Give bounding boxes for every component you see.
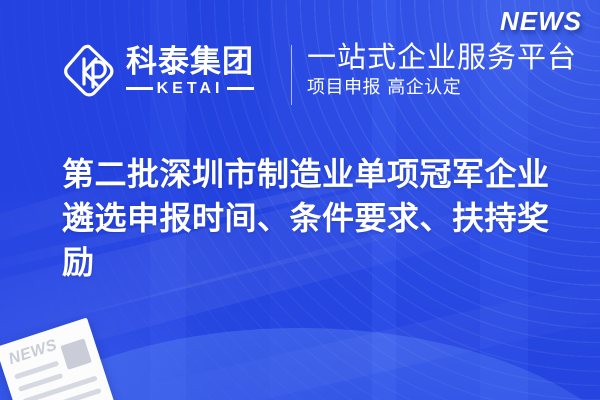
page-title: 第二批深圳市制造业单项冠军企业遴选申报时间、条件要求、扶持奖励 xyxy=(62,152,562,284)
logo-chinese-name: 科泰集团 xyxy=(126,46,254,78)
news-banner: 科泰集团 KETAI 一站式企业服务平台 项目申报 高企认定 NEWS 第二批深… xyxy=(0,0,600,400)
tagline-block: 一站式企业服务平台 项目申报 高企认定 xyxy=(307,40,577,100)
newspaper-icon: NEWS xyxy=(0,318,116,400)
logo-dash-right xyxy=(227,87,254,90)
tagline-sub: 项目申报 高企认定 xyxy=(307,76,577,100)
ketai-diamond-kp-icon xyxy=(62,42,116,100)
tagline-main: 一站式企业服务平台 xyxy=(307,40,577,74)
header-divider xyxy=(291,45,292,105)
logo-english-name: KETAI xyxy=(157,81,224,97)
banner-header: 科泰集团 KETAI 一站式企业服务平台 项目申报 高企认定 NEWS xyxy=(0,0,600,125)
logo-dash-left xyxy=(126,87,153,90)
ketai-logo[interactable]: 科泰集团 KETAI xyxy=(62,42,254,100)
news-label: NEWS xyxy=(500,6,582,36)
